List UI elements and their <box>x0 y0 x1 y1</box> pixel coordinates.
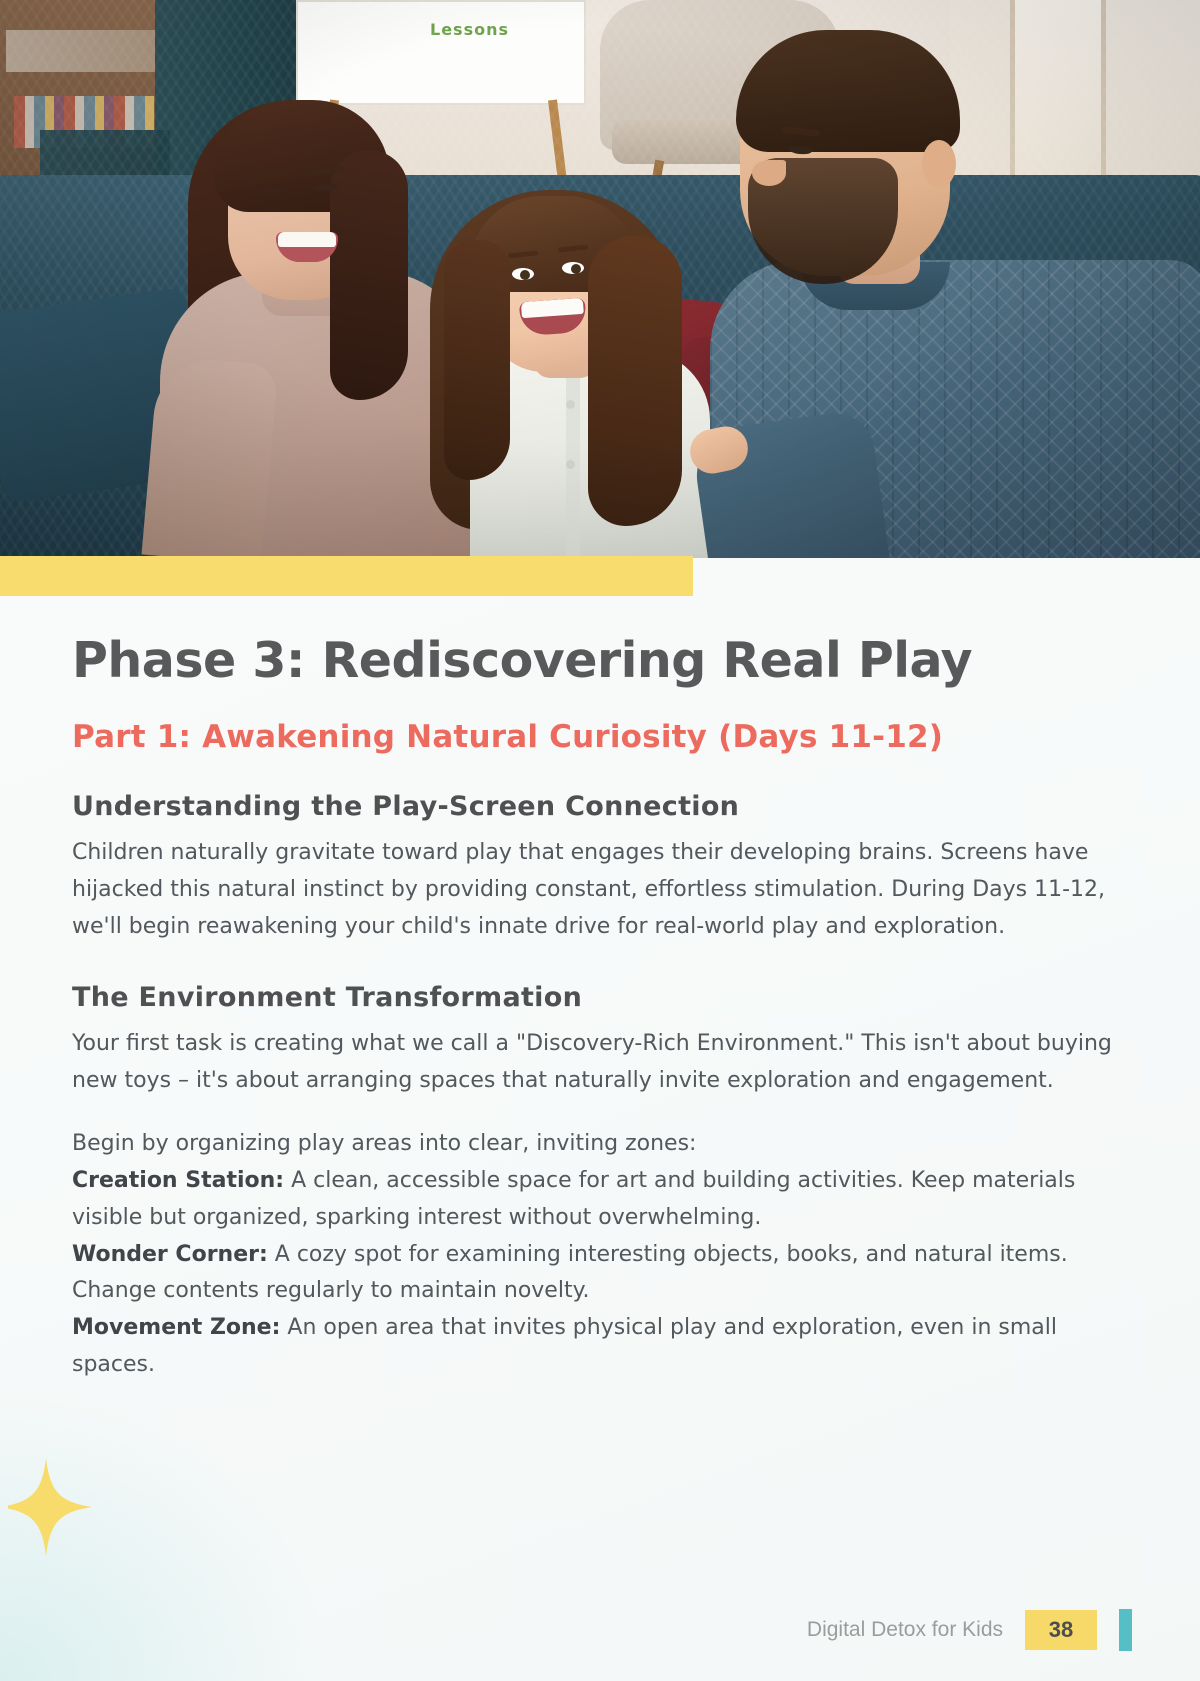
section-paragraph-understanding: Children naturally gravitate toward play… <box>72 835 1128 946</box>
hero-photo: Lessons <box>0 0 1200 558</box>
hero-scene: Lessons <box>0 0 1200 558</box>
zone-item-creation-station: Creation Station: A clean, accessible sp… <box>72 1163 1128 1237</box>
part-title: Part 1: Awakening Natural Curiosity (Day… <box>72 719 1128 755</box>
footer-book-title: Digital Detox for Kids <box>807 1618 1003 1642</box>
section-heading-environment: The Environment Transformation <box>72 982 1128 1013</box>
paragraph-spacer <box>72 1100 1128 1126</box>
zone-item-wonder-corner: Wonder Corner: A cozy spot for examining… <box>72 1237 1128 1311</box>
yellow-accent-bar <box>0 556 693 596</box>
page-content: Phase 3: Rediscovering Real Play Part 1:… <box>0 596 1200 1384</box>
footer-teal-tab <box>1119 1609 1132 1651</box>
zone-item-movement-zone: Movement Zone: An open area that invites… <box>72 1310 1128 1384</box>
page-number-badge: 38 <box>1025 1610 1097 1650</box>
document-page: Lessons <box>0 0 1200 1681</box>
page-title: Phase 3: Rediscovering Real Play <box>72 634 1128 689</box>
zone-label-wonder-corner: Wonder Corner: <box>72 1242 268 1267</box>
zones-intro: Begin by organizing play areas into clea… <box>72 1126 1128 1163</box>
page-footer: Digital Detox for Kids 38 <box>0 1609 1200 1651</box>
section-heading-understanding: Understanding the Play-Screen Connection <box>72 791 1128 822</box>
zone-label-creation-station: Creation Station: <box>72 1168 284 1193</box>
sparkle-icon <box>8 1452 98 1562</box>
hero-vignette <box>0 0 1200 558</box>
section-paragraph-environment: Your first task is creating what we call… <box>72 1026 1128 1100</box>
zone-label-movement-zone: Movement Zone: <box>72 1315 280 1340</box>
